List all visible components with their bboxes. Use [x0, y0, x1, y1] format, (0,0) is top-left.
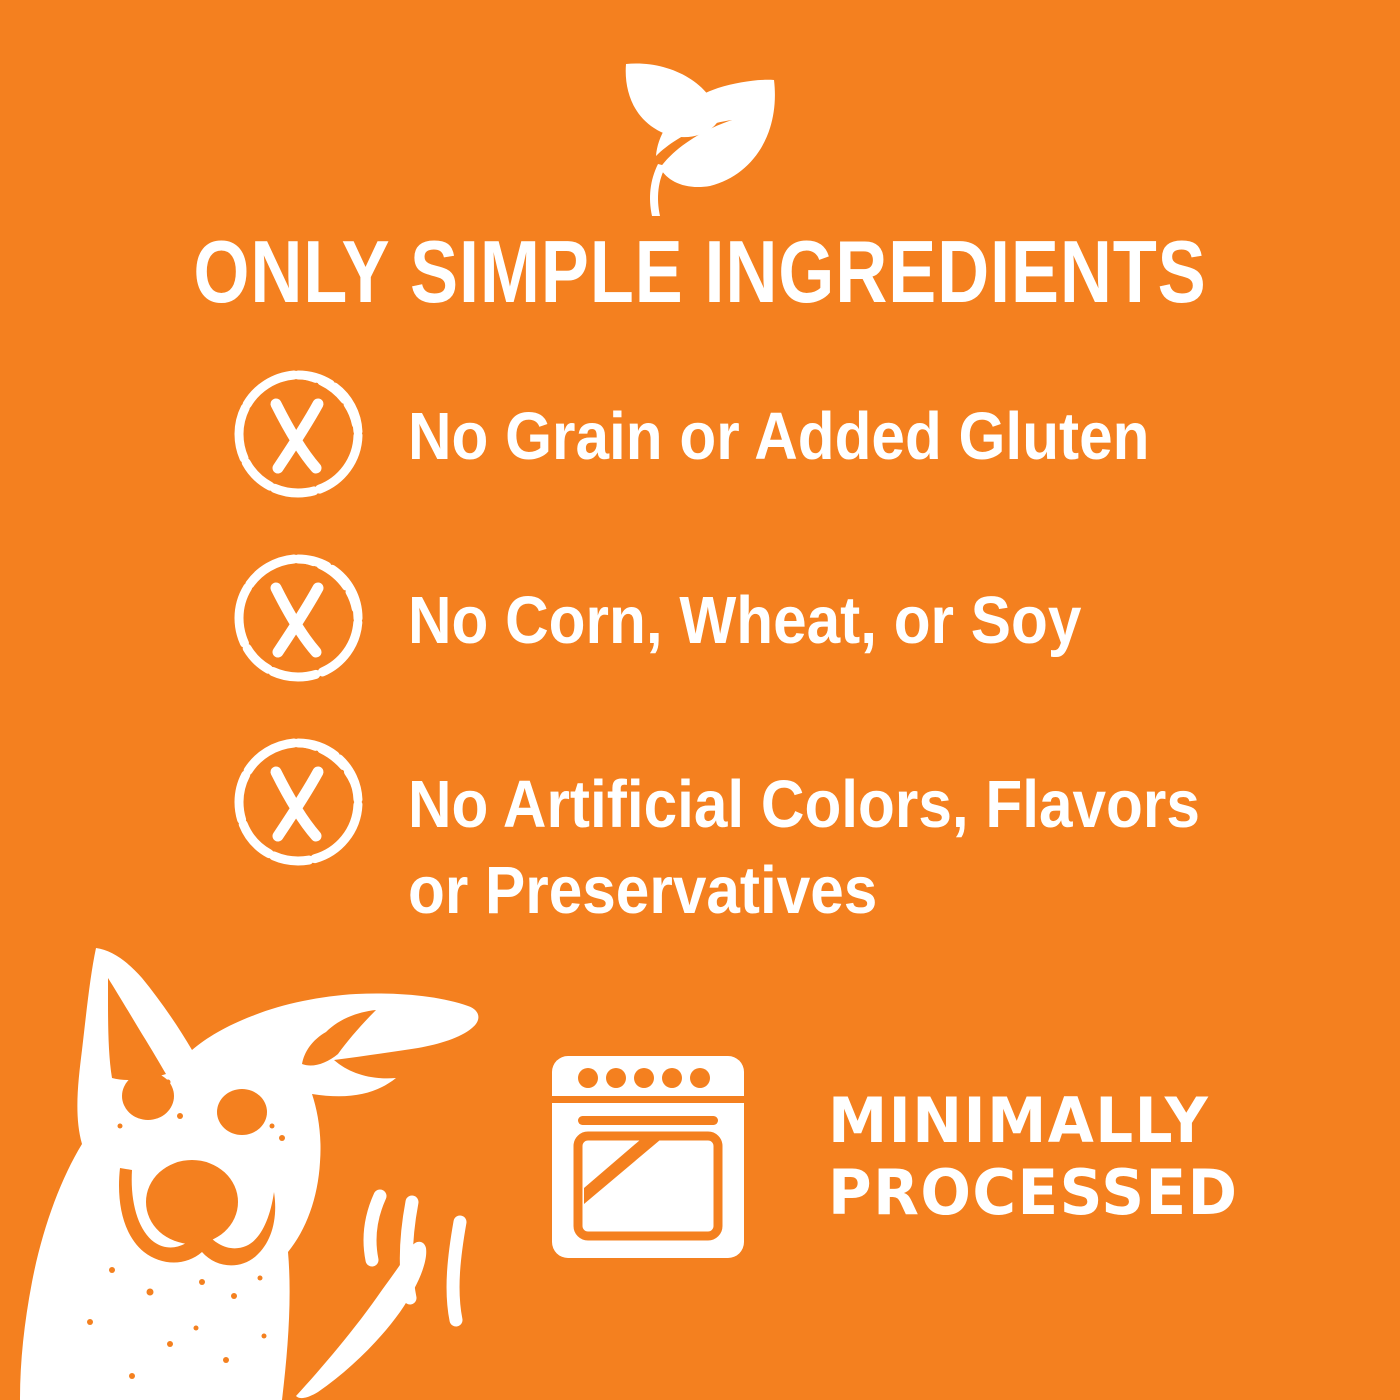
- circle-x-icon: [228, 548, 368, 688]
- circle-x-icon: [228, 364, 368, 504]
- dog-silhouette-icon: [20, 930, 520, 1400]
- claim-label: No Corn, Wheat, or Soy: [408, 556, 1081, 664]
- list-item: No Grain or Added Gluten: [228, 372, 1288, 512]
- minimally-processed-badge: MINIMALLY PROCESSED: [548, 1052, 1256, 1262]
- claim-label: No Grain or Added Gluten: [408, 372, 1149, 480]
- badge-label: MINIMALLY PROCESSED: [828, 1085, 1238, 1229]
- claims-list: No Grain or Added Gluten No Corn, Wheat,…: [228, 372, 1288, 934]
- leaf-icon: [598, 52, 798, 222]
- ingredient-claims-panel: ONLY SIMPLE INGREDIENTS No Grain or Adde…: [0, 0, 1400, 1400]
- page-title: ONLY SIMPLE INGREDIENTS: [126, 228, 1274, 316]
- oven-icon: [548, 1052, 748, 1262]
- claim-label: No Artificial Colors, Flavors or Preserv…: [408, 740, 1200, 934]
- circle-x-icon: [228, 732, 368, 872]
- list-item: No Artificial Colors, Flavors or Preserv…: [228, 740, 1288, 934]
- list-item: No Corn, Wheat, or Soy: [228, 556, 1288, 696]
